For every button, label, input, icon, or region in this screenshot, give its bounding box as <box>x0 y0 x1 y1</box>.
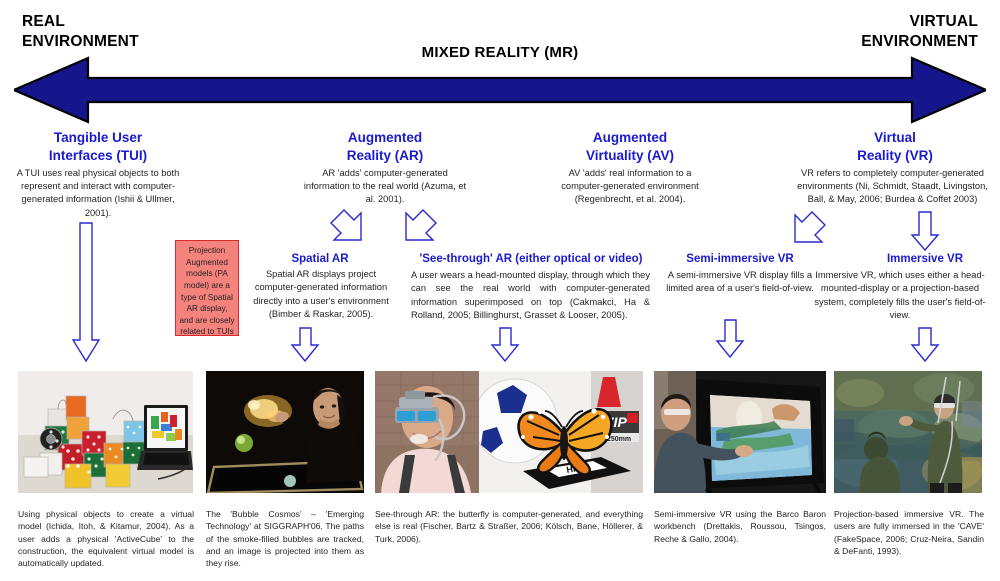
category-title-ar-line1: Augmented <box>300 129 470 147</box>
arrow-vr-to-immersive-vr <box>912 212 938 250</box>
category-title-vr-line2: Reality (VR) <box>800 147 990 165</box>
subcategory-desc-semi-immersive-vr: A semi-immersive VR display fills a limi… <box>657 269 823 296</box>
caption-cave: Projection-based immersive VR. The users… <box>834 508 984 557</box>
category-title-tui-line1: Tangible User <box>8 129 188 147</box>
caption-see-through-ar: See-through AR: the butterfly is compute… <box>375 508 643 545</box>
category-desc-av: AV 'adds' real information to a computer… <box>548 167 712 207</box>
subcategory-title-spatial-ar: Spatial AR <box>250 252 390 267</box>
category-title-tui: Tangible User Interfaces (TUI) <box>8 129 188 165</box>
photo-barco-baron-art <box>654 371 826 493</box>
real-environment-label-line1: REAL <box>22 12 139 32</box>
diagram-canvas: REAL ENVIRONMENT VIRTUAL ENVIRONMENT MIX… <box>0 0 1000 581</box>
photo-cave-immersive-vr <box>834 371 982 493</box>
subcategory-desc-immersive-vr: Immersive VR, which uses either a head-m… <box>808 269 992 323</box>
photo-cave-art <box>834 371 982 493</box>
category-desc-tui: A TUI uses real physical objects to both… <box>10 167 186 220</box>
subcategory-desc-spatial-ar: Spatial AR displays project computer-gen… <box>248 268 394 322</box>
arrow-spatial-ar-to-photo <box>292 328 318 361</box>
reality-virtuality-continuum-arrow <box>14 56 986 124</box>
virtual-environment-label-line1: VIRTUAL <box>861 12 978 32</box>
category-desc-ar: AR 'adds' computer-generated information… <box>303 167 467 207</box>
photo-ar-butterfly-art: ZIP 250mm Hiro <box>479 371 643 493</box>
subcategory-title-semi-immersive-vr: Semi-immersive VR <box>660 252 820 267</box>
arrow-see-through-ar-to-photo <box>492 328 518 361</box>
arrow-immersive-vr-to-photo <box>912 328 938 361</box>
category-title-vr-line1: Virtual <box>800 129 990 147</box>
photo-hmd-user <box>375 371 479 493</box>
caption-bubble-cosmos: The 'Bubble Cosmos' – 'Emerging Technolo… <box>206 508 364 569</box>
arrow-ar-to-spatial-ar <box>331 210 361 240</box>
photo-bubble-cosmos <box>206 371 364 493</box>
photo-activecube <box>18 371 193 493</box>
category-title-tui-line2: Interfaces (TUI) <box>8 147 188 165</box>
pa-model-note-box: Projection Augmented models (PA model) a… <box>175 240 239 336</box>
category-desc-vr: VR refers to completely computer-generat… <box>790 167 995 207</box>
category-title-vr: Virtual Reality (VR) <box>800 129 990 165</box>
caption-activecube: Using physical objects to create a virtu… <box>18 508 194 569</box>
category-title-av-line1: Augmented <box>545 129 715 147</box>
arrow-tui-to-photo <box>73 223 99 361</box>
caption-barco-baron: Semi-immersive VR using the Barco Baron … <box>654 508 826 545</box>
category-title-ar: Augmented Reality (AR) <box>300 129 470 165</box>
category-title-av-line2: Virtuality (AV) <box>545 147 715 165</box>
svg-text:250mm: 250mm <box>607 436 631 443</box>
arrow-semi-immersive-vr-to-photo <box>717 320 743 357</box>
photo-bubble-cosmos-art <box>206 371 364 493</box>
photo-barco-baron-workbench <box>654 371 826 493</box>
arrow-ar-to-see-through-ar <box>406 210 436 240</box>
photo-activecube-art <box>18 371 193 493</box>
arrow-vr-to-semi-immersive-vr <box>795 212 825 242</box>
photo-hmd-user-art <box>375 371 479 493</box>
subcategory-title-immersive-vr: Immersive VR <box>855 252 995 267</box>
category-title-ar-line2: Reality (AR) <box>300 147 470 165</box>
category-title-av: Augmented Virtuality (AV) <box>545 129 715 165</box>
subcategory-title-see-through-ar: 'See-through' AR (either optical or vide… <box>406 252 656 267</box>
subcategory-desc-see-through-ar: A user wears a head-mounted display, thr… <box>411 269 650 323</box>
photo-ar-butterfly: ZIP 250mm Hiro <box>479 371 643 493</box>
